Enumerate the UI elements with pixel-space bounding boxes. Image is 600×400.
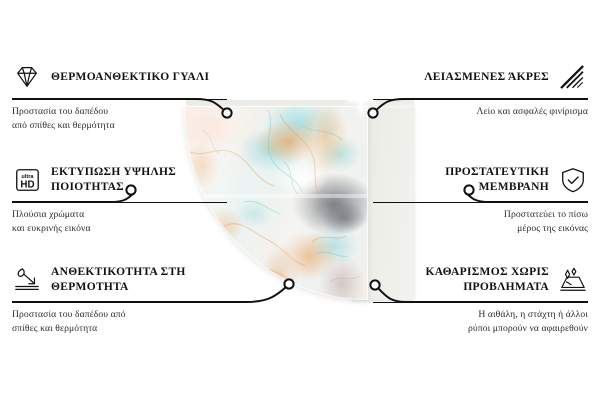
feature-subtitle: Λείο και ασφαλές φινίρισμα xyxy=(373,105,588,119)
polished-edges-icon xyxy=(558,63,588,91)
feature-subtitle: Προστασία του δαπέδου απόσπίθες και θερμ… xyxy=(12,308,227,335)
shield-check-icon xyxy=(558,166,588,194)
diamond-icon xyxy=(12,63,42,91)
feature-subtitle: Πλούσια χρώματακαι ευκρινής εικόνα xyxy=(12,208,227,235)
feature-divider xyxy=(373,302,588,303)
feature-title: ΘΕΡΜΟΑΝΘΕΚΤΙΚΟ ΓΥΑΛΙ xyxy=(51,70,209,85)
feature-header: ΠΡΟΣΤΑΤΕΥΤΙΚΗ ΜΕΜΒΡΑΝΗ xyxy=(373,163,588,197)
feature-title: ΠΡΟΣΤΑΤΕΥΤΙΚΗ ΜΕΜΒΡΑΝΗ xyxy=(373,165,549,194)
feature-divider xyxy=(12,99,227,100)
feature-divider xyxy=(12,302,227,303)
feature-divider xyxy=(373,202,588,203)
feature-title: ΛΕΙΑΣΜΕΝΕΣ ΆΚΡΕΣ xyxy=(424,70,549,85)
connector-dot xyxy=(284,279,293,288)
feature-heat-resistant-glass: ΘΕΡΜΟΑΝΘΕΚΤΙΚΟ ΓΥΑΛΙ Προστασία του δαπέδ… xyxy=(12,60,227,132)
feature-header: ΑΝΘΕΚΤΙΚΟΤΗΤΑ ΣΤΗ ΘΕΡΜΟΤΗΤΑ xyxy=(12,263,227,297)
feature-title: ΚΑΘΑΡΙΣΜΟΣ ΧΩΡΙΣ ΠΡΟΒΛΗΜΑΤΑ xyxy=(373,265,549,294)
feature-title: ΕΚΤΥΠΩΣΗ ΥΨΗΛΗΣ ΠΟΙΟΤΗΤΑΣ xyxy=(51,165,227,194)
feature-subtitle: Η αιθάλη, η στάχτη ή άλλοιρύποι μπορούν … xyxy=(373,308,588,335)
hd-label: HD xyxy=(20,179,34,190)
ultra-hd-icon: ultra HD xyxy=(12,166,42,194)
feature-divider xyxy=(373,99,588,100)
feature-easy-cleaning: ΚΑΘΑΡΙΣΜΟΣ ΧΩΡΙΣ ΠΡΟΒΛΗΜΑΤΑ Η αιθάλη, η … xyxy=(373,263,588,335)
feature-polished-edges: ΛΕΙΑΣΜΕΝΕΣ ΆΚΡΕΣ Λείο και ασφαλές φινίρι… xyxy=(373,60,588,119)
easy-clean-icon xyxy=(558,266,588,294)
feature-heat-resistance: ΑΝΘΕΚΤΙΚΟΤΗΤΑ ΣΤΗ ΘΕΡΜΟΤΗΤΑ Προστασία το… xyxy=(12,263,227,335)
feature-header: ΘΕΡΜΟΑΝΘΕΚΤΙΚΟ ΓΥΑΛΙ xyxy=(12,60,227,94)
infographic-stage: ΘΕΡΜΟΑΝΘΕΚΤΙΚΟ ΓΥΑΛΙ Προστασία του δαπέδ… xyxy=(0,0,600,400)
feature-title: ΑΝΘΕΚΤΙΚΟΤΗΤΑ ΣΤΗ ΘΕΡΜΟΤΗΤΑ xyxy=(51,265,227,294)
heat-resistance-icon xyxy=(12,266,42,294)
feature-protective-membrane: ΠΡΟΣΤΑΤΕΥΤΙΚΗ ΜΕΜΒΡΑΝΗ Προστατεύει το πί… xyxy=(373,163,588,235)
feature-subtitle: Προστατεύει το πίσωμέρος της εικόνας xyxy=(373,208,588,235)
feature-divider xyxy=(12,202,227,203)
feature-header: ΚΑΘΑΡΙΣΜΟΣ ΧΩΡΙΣ ΠΡΟΒΛΗΜΑΤΑ xyxy=(373,263,588,297)
feature-header: ΛΕΙΑΣΜΕΝΕΣ ΆΚΡΕΣ xyxy=(373,60,588,94)
feature-subtitle: Προστασία του δαπέδουαπό σπίθες και θερμ… xyxy=(12,105,227,132)
feature-header: ultra HD ΕΚΤΥΠΩΣΗ ΥΨΗΛΗΣ ΠΟΙΟΤΗΤΑΣ xyxy=(12,163,227,197)
feature-high-quality-print: ultra HD ΕΚΤΥΠΩΣΗ ΥΨΗΛΗΣ ΠΟΙΟΤΗΤΑΣ Πλούσ… xyxy=(12,163,227,235)
